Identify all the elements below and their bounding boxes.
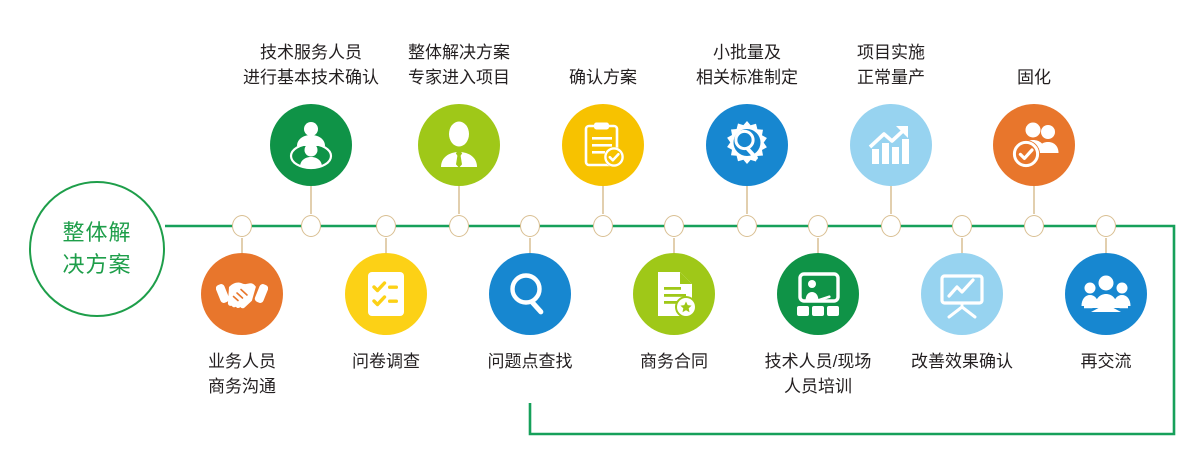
clipboard-check-icon[interactable] — [562, 104, 644, 186]
gear-search-icon[interactable] — [706, 104, 788, 186]
timeline-node-dot[interactable] — [808, 215, 828, 237]
two-persons-meeting-icon[interactable] — [270, 104, 352, 186]
timeline-node-dot[interactable] — [449, 215, 469, 237]
training-board-icon[interactable] — [777, 253, 859, 335]
timeline-node-dot[interactable] — [593, 215, 613, 237]
process-flow-diagram: 整体解 决方案 技术服务人员 进行基本技术确认整体解决方案 专家进入项目确认方案… — [0, 0, 1200, 465]
timeline-node-dot[interactable] — [376, 215, 396, 237]
timeline-node-dot[interactable] — [301, 215, 321, 237]
magnifier-icon[interactable] — [489, 253, 571, 335]
start-node-label: 整体解 决方案 — [62, 217, 131, 281]
handshake-icon[interactable] — [201, 253, 283, 335]
timeline-node-dot[interactable] — [664, 215, 684, 237]
timeline-node-dot[interactable] — [881, 215, 901, 237]
timeline-node-dot[interactable] — [952, 215, 972, 237]
timeline-node-dot[interactable] — [1024, 215, 1044, 237]
person-tie-icon[interactable] — [418, 104, 500, 186]
timeline-node-dot[interactable] — [232, 215, 252, 237]
people-group-icon[interactable] — [1065, 253, 1147, 335]
group-check-icon[interactable] — [993, 104, 1075, 186]
timeline-node-dot[interactable] — [737, 215, 757, 237]
presentation-chart-icon[interactable] — [921, 253, 1003, 335]
top-step-label-5: 固化 — [944, 65, 1124, 90]
contract-star-icon[interactable] — [633, 253, 715, 335]
timeline-node-dot[interactable] — [520, 215, 540, 237]
bottom-step-label-6: 再交流 — [1016, 349, 1196, 374]
growth-chart-icon[interactable] — [850, 104, 932, 186]
start-node[interactable]: 整体解 决方案 — [29, 181, 165, 317]
timeline-node-dot[interactable] — [1096, 215, 1116, 237]
checklist-icon[interactable] — [345, 253, 427, 335]
